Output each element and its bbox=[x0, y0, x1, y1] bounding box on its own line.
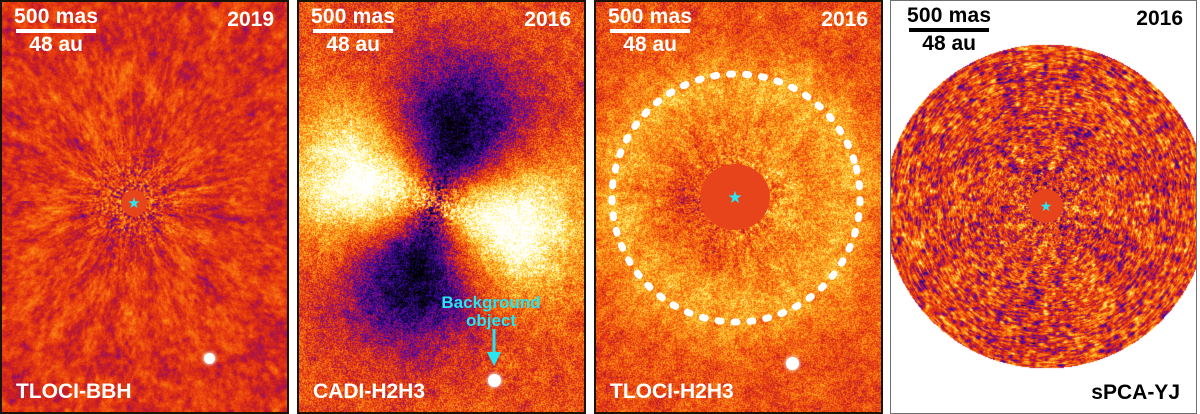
panel-cadi-h2h3: 500 mas 48 au 2016 Background object CAD… bbox=[297, 0, 586, 414]
panel-spca-yj: 500 mas 48 au 2016 ★ sPCA-YJ bbox=[890, 0, 1197, 414]
figure-root: 500 mas 48 au 2019 ★ TLOCI-BBH 500 mas 4… bbox=[0, 0, 1200, 414]
panel-tloci-bbh: 500 mas 48 au 2019 ★ TLOCI-BBH bbox=[0, 0, 289, 414]
panel-2-image bbox=[299, 2, 584, 412]
panel-gap-1 bbox=[289, 0, 297, 414]
panel-gap-3 bbox=[883, 0, 890, 414]
panel-3-image bbox=[596, 2, 881, 412]
panel-1-image bbox=[2, 2, 287, 412]
panel-gap-2 bbox=[586, 0, 594, 414]
panel-tloci-h2h3: 500 mas 48 au 2016 ★ TLOCI-H2H3 bbox=[594, 0, 883, 414]
panel-4-image bbox=[891, 1, 1196, 413]
